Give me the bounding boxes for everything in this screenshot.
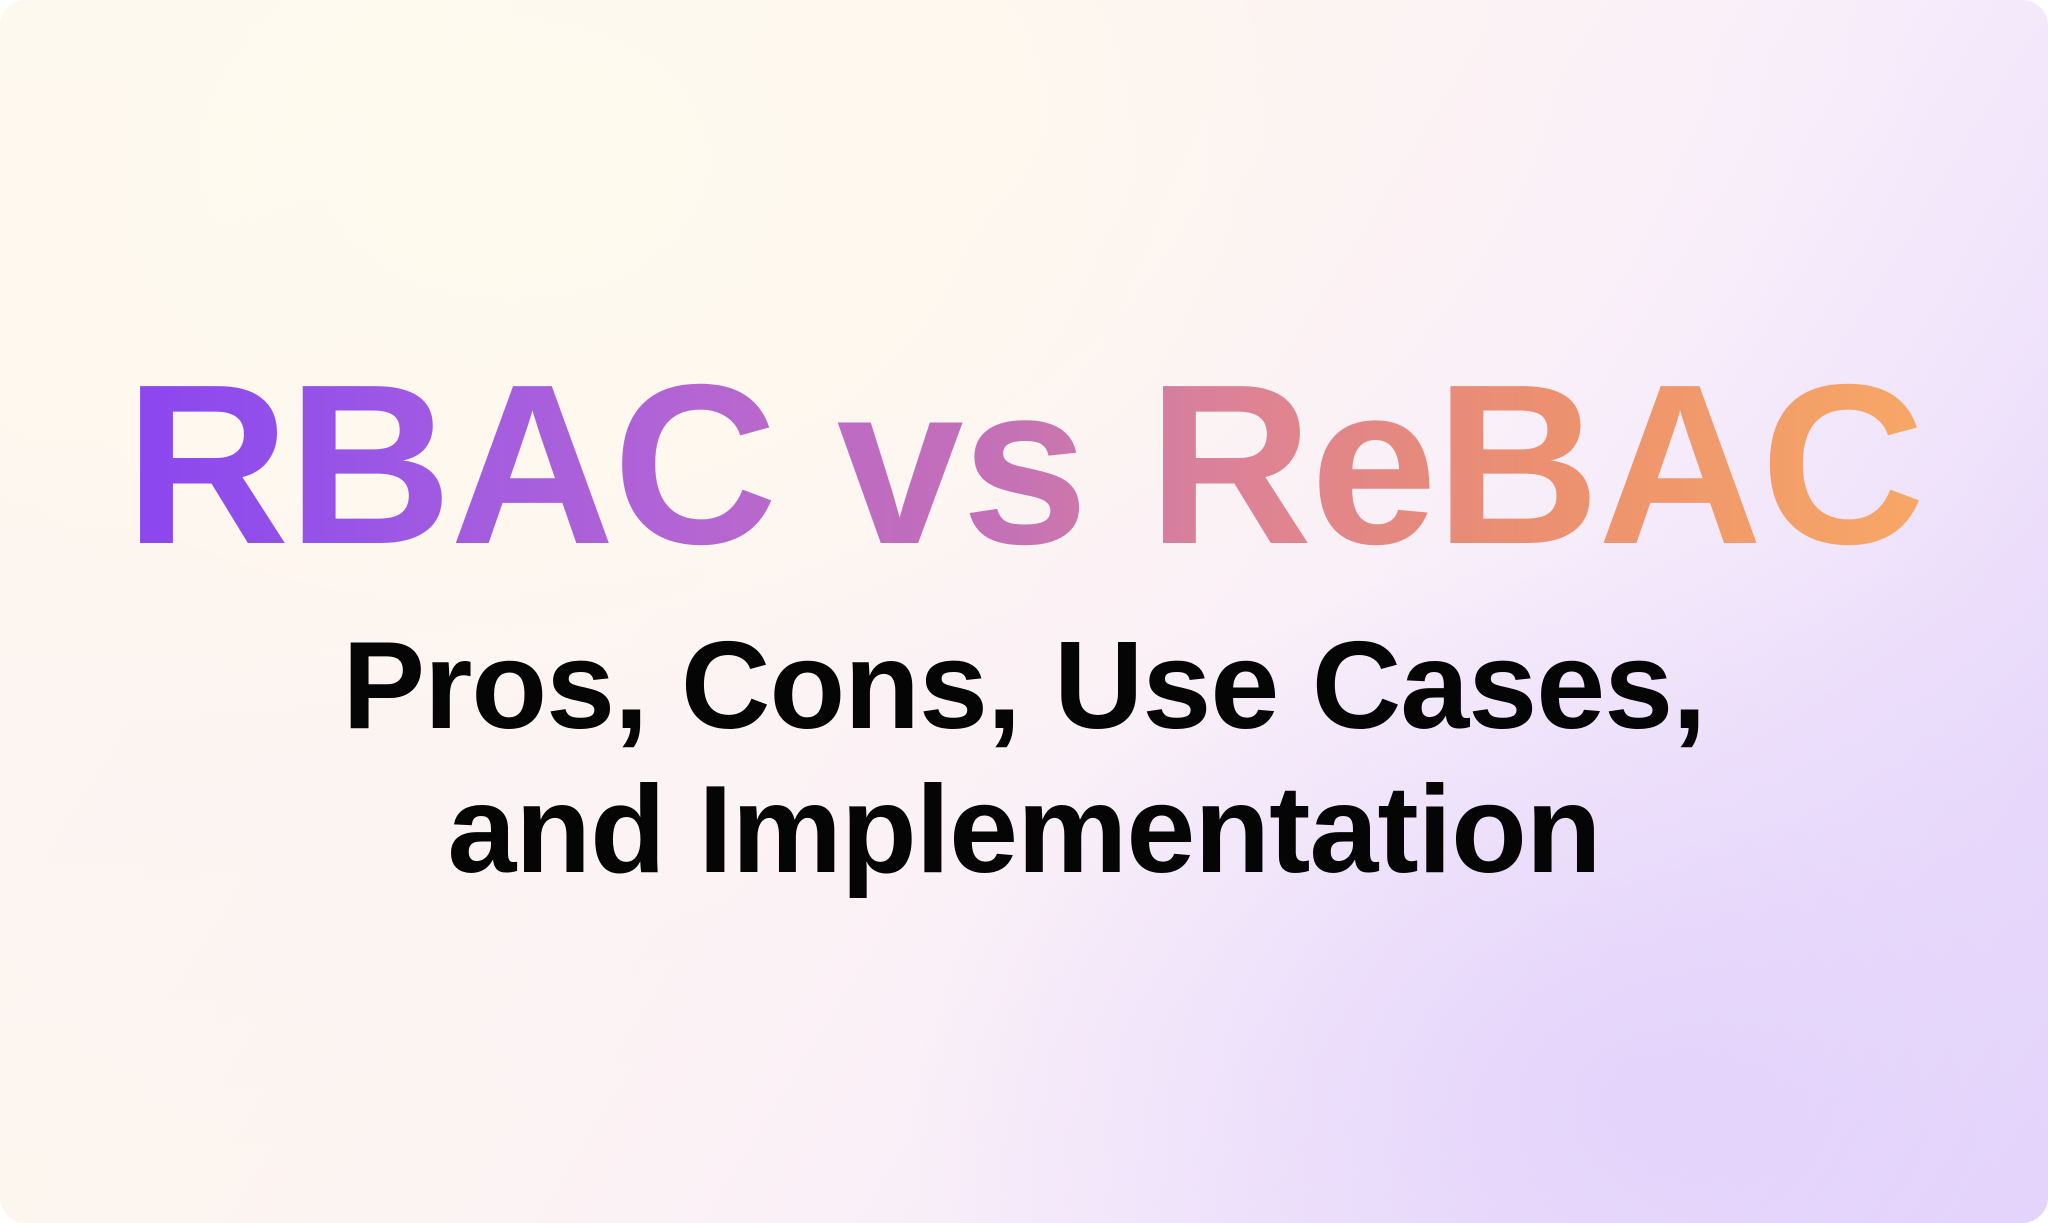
subtitle-line-1: Pros, Cons, Use Cases, xyxy=(342,615,1705,759)
page-subtitle: Pros, Cons, Use Cases, and Implementatio… xyxy=(342,615,1705,903)
hero-text-stack: RBAC vs ReBAC Pros, Cons, Use Cases, and… xyxy=(0,0,2048,1223)
subtitle-line-2: and Implementation xyxy=(342,759,1705,903)
page-title: RBAC vs ReBAC xyxy=(125,356,1923,575)
hero-banner-card: RBAC vs ReBAC Pros, Cons, Use Cases, and… xyxy=(0,0,2048,1223)
